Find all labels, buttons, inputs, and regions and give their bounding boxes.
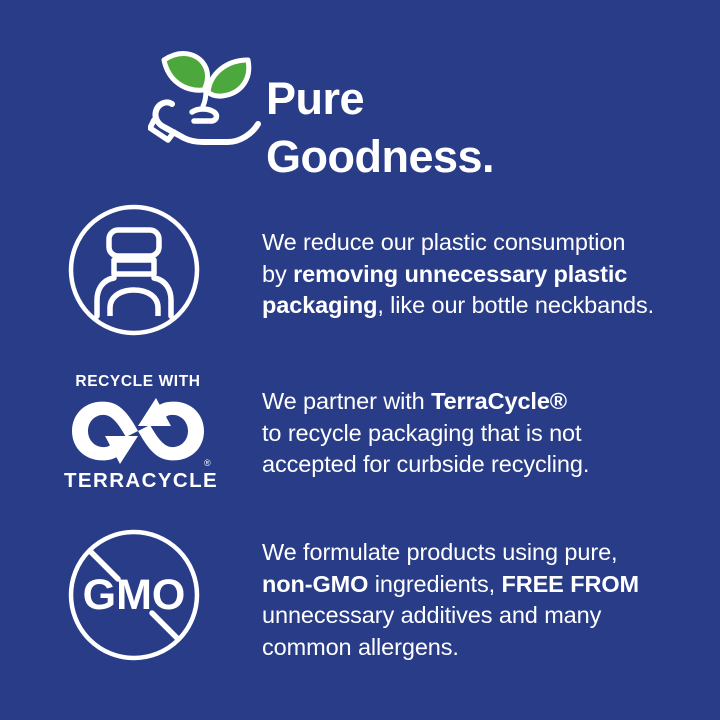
feature-text-plastic: We reduce our plastic consumptionby remo… [262,227,702,322]
feature-row-gmo: GMO We formulate products using pure,non… [0,525,720,680]
terracycle-logo: RECYCLE WITH ® [64,368,212,498]
terracycle-wordmark: TERRACYCLE [64,470,212,492]
feature-line: by removing unnecessary plastic [262,259,702,291]
pure-goodness-infographic: Pure Goodness. We reduce our plastic con… [0,0,720,720]
feature-row-plastic: We reduce our plastic consumptionby remo… [0,200,720,350]
feature-row-terracycle: RECYCLE WITH ® [0,368,720,508]
feature-line: to recycle packaging that is not [262,418,702,450]
feature-line: We formulate products using pure, [262,537,702,569]
infinity-recycle-arrows-icon: ® [64,392,212,470]
feature-line: We reduce our plastic consumption [262,227,702,259]
feature-text-terracycle: We partner with TerraCycle®to recycle pa… [262,386,702,481]
feature-line: We partner with TerraCycle® [262,386,702,418]
feature-line: accepted for curbside recycling. [262,449,702,481]
feature-line: non-GMO ingredients, FREE FROM [262,569,702,601]
page-title-line-1: Pure [266,70,686,128]
gmo-label: GMO [83,571,186,619]
no-gmo-circle-icon: GMO [66,525,206,665]
page-title: Pure Goodness. [266,70,686,186]
bottle-neckband-circle-icon [66,200,206,340]
terracycle-top-text: RECYCLE WITH [64,374,212,390]
page-title-line-2: Goodness. [266,128,686,186]
feature-line: packaging, like our bottle neckbands. [262,290,702,322]
feature-line: unnecessary additives and many [262,600,702,632]
hand-holding-sprout-icon [148,38,266,150]
feature-line: common allergens. [262,632,702,664]
registered-mark: ® [204,458,211,468]
header: Pure Goodness. [0,0,720,180]
feature-text-gmo: We formulate products using pure,non-GMO… [262,537,702,663]
